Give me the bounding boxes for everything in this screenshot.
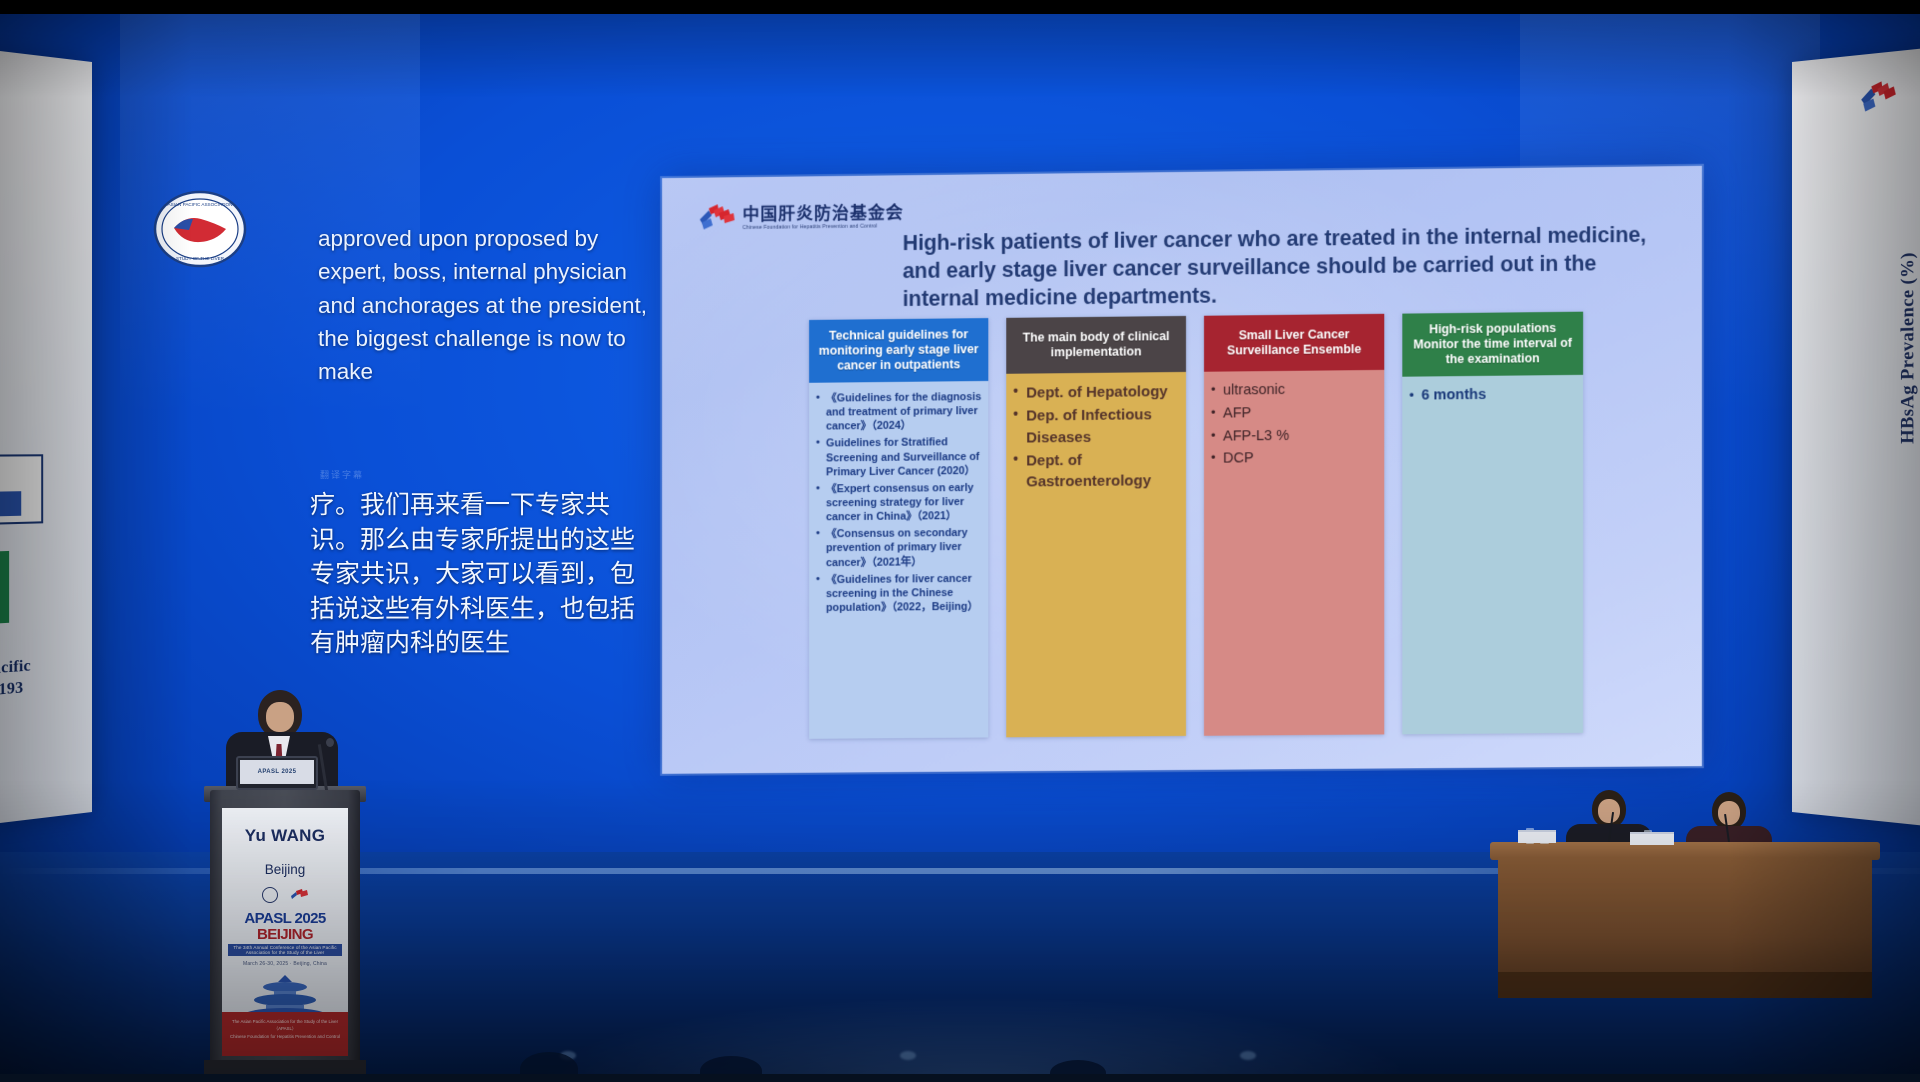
panelist-name-card <box>1630 832 1674 845</box>
list-item: 《Consensus on secondary prevention of pr… <box>816 526 981 570</box>
foundation-logo-text: 中国肝炎防治基金会 Chinese Foundation for Hepatit… <box>742 205 903 232</box>
laptop-screen-label: APASL 2025 <box>240 760 314 784</box>
svg-text:STUDY OF THE LIVER: STUDY OF THE LIVER <box>176 256 225 261</box>
list-item: Dep. of Infectious Diseases <box>1013 404 1179 448</box>
column-body: Dept. of Hepatology Dep. of Infectious D… <box>1006 372 1186 737</box>
foundation-logo-icon <box>698 203 736 235</box>
slide-title: High-risk patients of liver cancer who a… <box>903 220 1664 313</box>
speaker-name: Yu WANG <box>222 826 348 846</box>
right-side-display-panel: HBsAg Prevalence (%) <box>1792 46 1920 828</box>
left-panel-caption-line1: Pacific <box>0 655 31 681</box>
letterbox-bottom-bar <box>0 1074 1920 1082</box>
list-item: AFP-L3 % <box>1211 425 1377 448</box>
hepatitis-foundation-flag-logo-icon <box>1855 76 1912 122</box>
event-date: March 26-30, 2025 · Beijing, China <box>222 961 348 967</box>
podium-with-speaker: APASL 2025 Yu WANG Beijing APASL 2025 BE… <box>196 690 416 1070</box>
footer-line-2: Chinese Foundation for Hepatitis Prevent… <box>227 1033 343 1040</box>
column-header: Small Liver Cancer Surveillance Ensemble <box>1204 314 1384 372</box>
list-item: Dept. of Hepatology <box>1013 381 1179 404</box>
footer-line-1: The Asian Pacific Association for the St… <box>227 1018 343 1033</box>
column-body: ultrasonic AFP AFP-L3 % DCP <box>1204 370 1384 736</box>
slide-columns-container: Technical guidelines for monitoring earl… <box>809 311 1619 739</box>
foundation-name-english: Chinese Foundation for Hepatitis Prevent… <box>742 225 903 232</box>
left-side-display-panel: Pacific 01193 <box>0 49 92 826</box>
podium-signage: Yu WANG Beijing APASL 2025 BEIJING The 3… <box>222 808 348 1056</box>
slide-column-technical-guidelines: Technical guidelines for monitoring earl… <box>809 318 988 739</box>
english-subtitle-caption: approved upon proposed by expert, boss, … <box>318 222 658 388</box>
panelist-face <box>1718 801 1740 825</box>
column-body: 《Guidelines for the diagnosis and treatm… <box>809 381 988 739</box>
podium-sign-marks <box>222 887 348 903</box>
column-header: Technical guidelines for monitoring earl… <box>809 318 988 383</box>
foundation-name-chinese: 中国肝炎防治基金会 <box>742 205 903 224</box>
column-body: 6 months <box>1402 375 1583 734</box>
left-panel-caption: Pacific 01193 <box>0 655 31 703</box>
list-item: 6 months <box>1409 384 1576 407</box>
list-item: Dept. of Gastroenterology <box>1013 449 1179 493</box>
list-item: 《Guidelines for the diagnosis and treatm… <box>816 390 981 434</box>
subtitle-watermark: 翻译字幕 <box>320 468 364 481</box>
speaker-city: Beijing <box>222 862 348 877</box>
list-item: DCP <box>1211 447 1377 470</box>
panel-discussion-table <box>1490 790 1910 1020</box>
projection-screen: 中国肝炎防治基金会 Chinese Foundation for Hepatit… <box>662 166 1702 774</box>
column-header: High-risk populations Monitor the time i… <box>1402 312 1583 377</box>
podium-sign-footer: The Asian Pacific Association for the St… <box>222 1012 348 1056</box>
right-panel-y-axis-label: HBsAg Prevalence (%) <box>1897 252 1919 444</box>
foundation-flag-icon <box>290 889 308 901</box>
left-panel-chart-thumbnail <box>0 454 43 525</box>
panelist-name-card <box>1518 830 1556 843</box>
list-item: 《Expert consensus on early screening str… <box>816 481 981 525</box>
event-name-part-a: APASL 2025 <box>244 911 325 927</box>
left-panel-green-bar <box>0 551 9 624</box>
slide-column-surveillance-ensemble: Small Liver Cancer Surveillance Ensemble… <box>1204 314 1384 736</box>
speaker-face <box>266 702 294 732</box>
floor-light-dot <box>1240 1051 1256 1060</box>
apasl-emblem-icon: ASIAN PACIFIC ASSOCIATION STUDY OF THE L… <box>152 190 248 268</box>
list-item: ultrasonic <box>1211 379 1377 402</box>
event-subtitle: The 34th Annual Conference of the Asian … <box>228 944 342 956</box>
svg-text:ASIAN PACIFIC ASSOCIATION: ASIAN PACIFIC ASSOCIATION <box>168 202 233 207</box>
table-skirt <box>1498 972 1872 998</box>
microphone-head <box>326 738 334 747</box>
podium-base <box>204 1060 366 1074</box>
list-item: 《Guidelines for liver cancer screening i… <box>816 571 981 615</box>
panelist-face <box>1598 799 1620 823</box>
chinese-subtitle-caption: 疗。我们再来看一下专家共识。那么由专家所提出的这些专家共识，大家可以看到，包括说… <box>310 488 650 661</box>
list-item: AFP <box>1211 402 1377 425</box>
apasl-circle-icon <box>262 887 278 903</box>
list-item: Guidelines for Stratified Screening and … <box>816 435 981 479</box>
slide-column-high-risk-populations: High-risk populations Monitor the time i… <box>1402 312 1583 735</box>
conference-stage-scene: Pacific 01193 HBsAg Prevalence (%) ASIAN… <box>0 0 1920 1082</box>
slide-column-main-body-clinical: The main body of clinical implementation… <box>1006 316 1186 737</box>
floor-light-dot <box>900 1051 916 1060</box>
letterbox-top-bar <box>0 0 1920 14</box>
left-panel-caption-line2: 01193 <box>0 677 31 703</box>
event-name-part-b: BEIJING <box>257 927 313 943</box>
slide-foundation-logo: 中国肝炎防治基金会 Chinese Foundation for Hepatit… <box>698 193 905 243</box>
event-name: APASL 2025 BEIJING <box>222 911 348 943</box>
column-header: The main body of clinical implementation <box>1006 316 1186 374</box>
